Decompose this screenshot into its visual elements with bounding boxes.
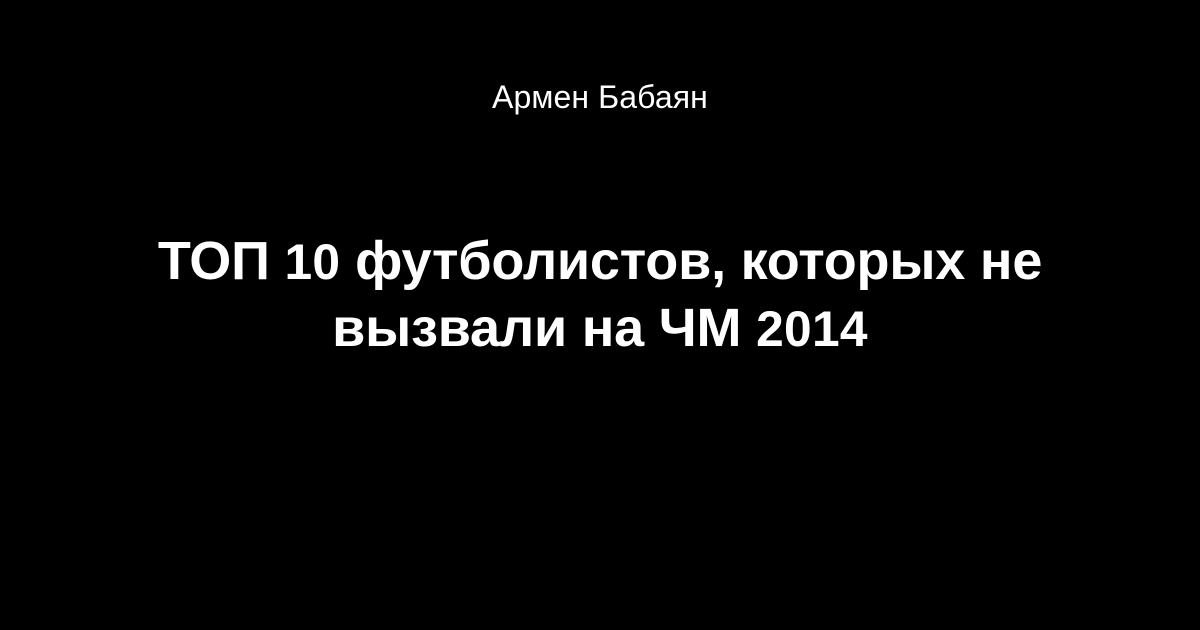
headline-line-1: ТОП 10 футболистов, которых не <box>60 228 1140 295</box>
headline-line-2-text-before: вызвали на ЧМ <box>332 298 756 358</box>
headline-line-1-text-before: ТОП <box>158 231 285 291</box>
title-card: Армен Бабаян ТОП 10 футболистов, которых… <box>0 0 1200 630</box>
headline-line-2: вызвали на ЧМ 2014 <box>60 295 1140 362</box>
headline-line-1-text-after: футболистов, которых не <box>340 231 1042 291</box>
page-title: ТОП 10 футболистов, которых не вызвали н… <box>0 228 1200 362</box>
headline-line-2-number: 2014 <box>756 301 868 357</box>
author-byline: Армен Бабаян <box>0 78 1200 116</box>
headline-line-1-number: 10 <box>285 234 341 290</box>
